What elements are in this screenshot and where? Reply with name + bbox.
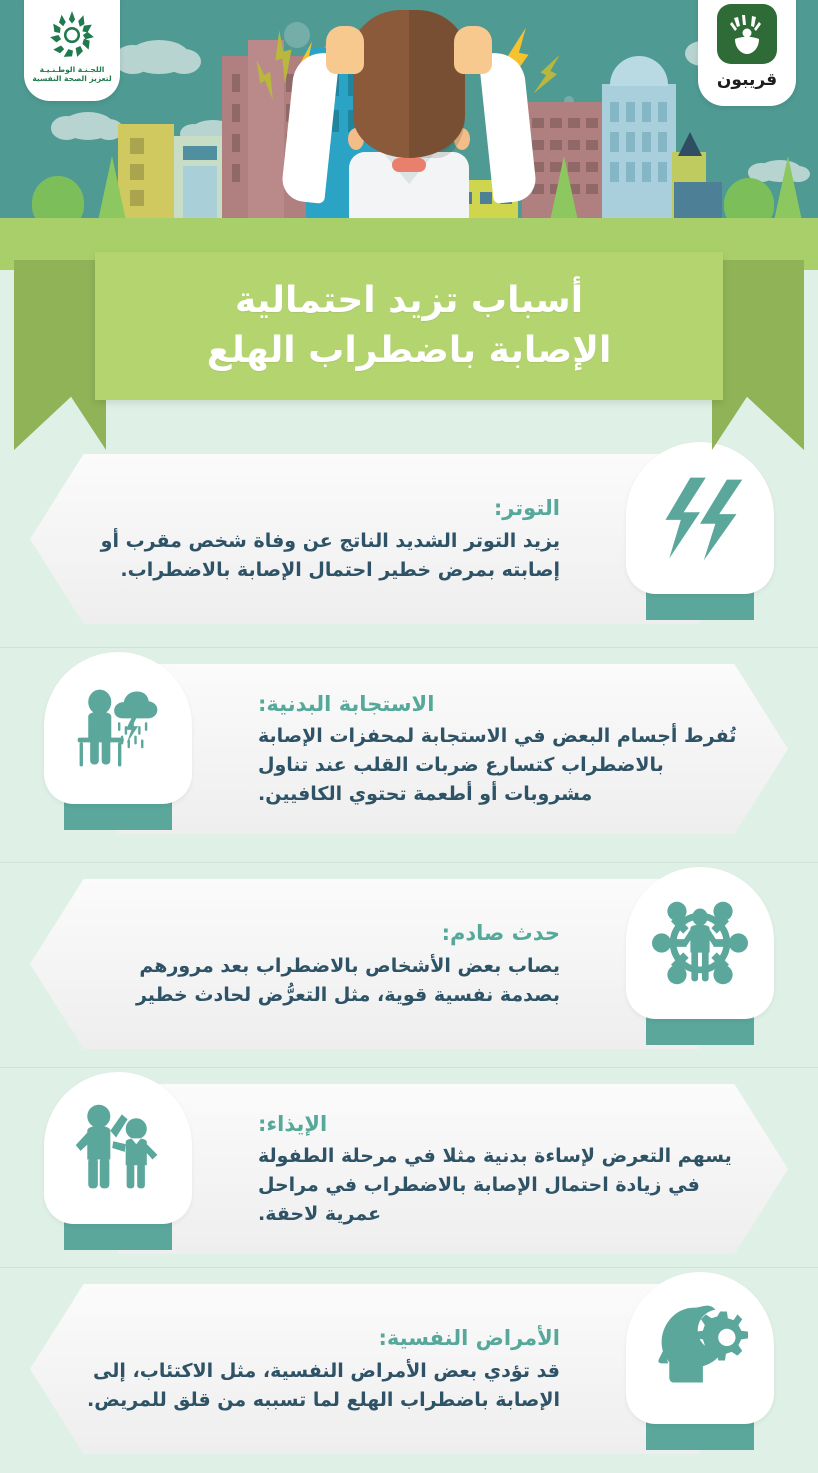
ribbon-tail-right [712, 260, 804, 450]
hero-illustration: اللجـنـة الوطـنـيـة لتعزيز الصحة النفسية [0, 0, 818, 270]
ribbon-tail-left [14, 260, 106, 450]
stressed-man-figure [284, 0, 534, 224]
qareeboon-tile [717, 4, 777, 64]
head-with-gear-icon [652, 1300, 748, 1396]
building-mauve-cap [248, 40, 284, 224]
card-body: تُفرط أجسام البعض في الاستجابة لمحفزات ا… [258, 722, 742, 809]
building-pale-center [174, 136, 226, 224]
lightning-bolts-icon [652, 470, 748, 566]
qareeboon-logo[interactable]: قريبون [698, 0, 796, 106]
card-abuse: الإيذاء: يسهم التعرض لإساءة بدنية مثلا ف… [118, 1084, 788, 1254]
medallion-dome [44, 652, 192, 804]
section-traumatic-event: قريبون حدث صادم: يصاب بعض الأشخاص بالاضط… [0, 863, 818, 1068]
person-network-impact-icon [652, 895, 748, 991]
medallion-traumatic-event [626, 867, 774, 1045]
right-arm [478, 50, 537, 204]
section-stress: قريبون التوتر: يزيد التوتر الشديد الناتج… [0, 438, 818, 648]
infographic-page: اللجـنـة الوطـنـيـة لتعزيز الصحة النفسية [0, 0, 818, 1473]
title-banner: أسباب تزيد احتمالية الإصابة باضطراب الهل… [95, 252, 723, 400]
adult-and-child-icon [70, 1100, 166, 1196]
national-committee-logo[interactable]: اللجـنـة الوطـنـيـة لتعزيز الصحة النفسية [24, 0, 120, 101]
card-physical-response: الاستجابة البدنية: تُفرط أجسام البعض في … [118, 664, 788, 834]
card-stress: التوتر: يزيد التوتر الشديد الناتج عن وفا… [30, 454, 700, 624]
card-body: يزيد التوتر الشديد الناتج عن وفاة شخص مق… [76, 527, 560, 585]
page-title-line-1: أسباب تزيد احتمالية [235, 276, 583, 326]
logo-line-1: اللجـنـة الوطـنـيـة [32, 65, 111, 74]
medallion-abuse [44, 1072, 192, 1250]
card-title: التوتر: [76, 493, 560, 525]
building-lightblue-domed [602, 84, 676, 224]
section-abuse: قريبون الإيذاء: يسهم التعرض لإساءة بدنية… [0, 1068, 818, 1268]
card-body: قد تؤدي بعض الأمراض النفسية، مثل الاكتئا… [76, 1357, 560, 1415]
medallion-dome [626, 867, 774, 1019]
medallion-physical-response [44, 652, 192, 830]
qareeboon-person-icon [727, 13, 767, 55]
national-committee-logo-text: اللجـنـة الوطـنـيـة لتعزيز الصحة النفسية [32, 65, 111, 84]
cloud-icon [62, 112, 114, 140]
card-title: حدث صادم: [76, 918, 560, 950]
section-physical-response: قريبون الاستجابة البدنية: تُفرط أجسام ال… [0, 648, 818, 863]
beard [353, 74, 465, 158]
cloud-icon [128, 40, 190, 74]
qareeboon-logo-text: قريبون [717, 70, 777, 90]
logo-line-2: لتعزيز الصحة النفسية [32, 74, 111, 83]
section-mental-illness: قريبون الأمراض النفسية: قد تؤدي بعض الأم… [0, 1268, 818, 1473]
building-spire [678, 132, 702, 156]
person-under-rain-cloud-icon [70, 680, 166, 776]
card-body: يسهم التعرض لإساءة بدنية مثلا في مرحلة ا… [258, 1142, 742, 1229]
page-title-line-2: الإصابة باضطراب الهلع [207, 326, 612, 376]
card-body: يصاب بعض الأشخاص بالاضطراب بعد مرورهم بص… [76, 952, 560, 1010]
medallion-dome [626, 1272, 774, 1424]
national-committee-mark-icon [46, 8, 98, 60]
hair [349, 10, 469, 76]
title-ribbon: أسباب تزيد احتمالية الإصابة باضطراب الهل… [0, 238, 818, 438]
card-title: الاستجابة البدنية: [258, 689, 742, 721]
mouth [392, 158, 426, 172]
causes-list: قريبون التوتر: يزيد التوتر الشديد الناتج… [0, 438, 818, 1473]
left-hand [326, 26, 364, 74]
medallion-dome [44, 1072, 192, 1224]
medallion-mental-illness [626, 1272, 774, 1450]
left-arm [280, 50, 339, 204]
right-hand [454, 26, 492, 74]
card-title: الأمراض النفسية: [76, 1323, 560, 1355]
card-title: الإيذاء: [258, 1109, 742, 1141]
medallion-dome [626, 442, 774, 594]
medallion-stress [626, 442, 774, 620]
card-traumatic-event: حدث صادم: يصاب بعض الأشخاص بالاضطراب بعد… [30, 879, 700, 1049]
card-mental-illness: الأمراض النفسية: قد تؤدي بعض الأمراض الن… [30, 1284, 700, 1454]
